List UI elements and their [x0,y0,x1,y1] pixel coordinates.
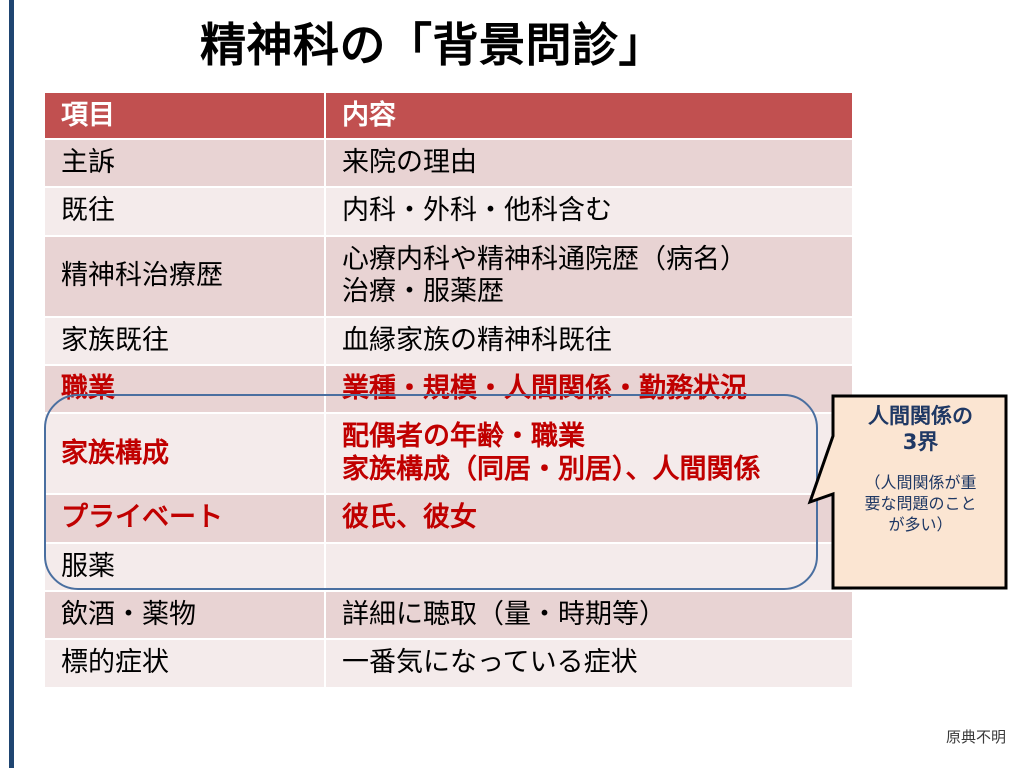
table-row: 家族既往血縁家族の精神科既往 [45,317,852,365]
table-header-row: 項目 内容 [45,93,852,139]
column-header-item: 項目 [45,93,325,139]
page-title: 精神科の「背景問診」 [45,6,820,78]
table-cell-item: 家族構成 [45,413,325,494]
table-cell-content: 来院の理由 [325,139,852,187]
table-cell-content-line: 家族構成（同居・別居）、人間関係 [342,454,852,486]
table-cell-content-line: 心療内科や精神科通院歴（病名） [342,244,852,276]
table-cell-content [325,543,852,591]
table-body: 主訴来院の理由既往内科・外科・他科含む精神科治療歴心療内科や精神科通院歴（病名）… [45,139,852,688]
callout-box: 人間関係の 3界 （人間関係が重 要な問題のこと が多い） [806,394,1008,590]
table-cell-content-line: 彼氏、彼女 [342,502,852,534]
table-row: 主訴来院の理由 [45,139,852,187]
table-cell-item: 飲酒・薬物 [45,591,325,639]
left-accent-bar [9,0,14,768]
table-cell-content: 彼氏、彼女 [325,494,852,542]
table-row: 家族構成配偶者の年齢・職業家族構成（同居・別居）、人間関係 [45,413,852,494]
table-cell-content-line: 一番気になっている症状 [342,647,852,679]
table-cell-content: 詳細に聴取（量・時期等） [325,591,852,639]
table-cell-content-line [342,551,852,583]
table-cell-item: 既往 [45,187,325,235]
table-cell-content: 業種・規模・人間関係・勤務状況 [325,365,852,413]
table-cell-content: 一番気になっている症状 [325,639,852,687]
table-row: 飲酒・薬物詳細に聴取（量・時期等） [45,591,852,639]
table-cell-item: 主訴 [45,139,325,187]
column-header-content: 内容 [325,93,852,139]
callout-subtext: （人間関係が重 要な問題のこと が多い） [841,473,1000,535]
table-cell-content: 心療内科や精神科通院歴（病名）治療・服薬歴 [325,236,852,317]
source-attribution: 原典不明 [946,726,1006,747]
table-row: 標的症状一番気になっている症状 [45,639,852,687]
callout-title-line-1: 人間関係の [841,404,1000,430]
table-cell-content-line: 血縁家族の精神科既往 [342,325,852,357]
table-row: 職業業種・規模・人間関係・勤務状況 [45,365,852,413]
callout-content: 人間関係の 3界 （人間関係が重 要な問題のこと が多い） [833,394,1008,590]
table-row: プライベート彼氏、彼女 [45,494,852,542]
table-header: 項目 内容 [45,93,852,139]
table-cell-content-line: 業種・規模・人間関係・勤務状況 [342,373,852,405]
table-cell-item: 標的症状 [45,639,325,687]
table-cell-item: 職業 [45,365,325,413]
table-cell-item: プライベート [45,494,325,542]
table-cell-item: 服薬 [45,543,325,591]
table-row: 精神科治療歴心療内科や精神科通院歴（病名）治療・服薬歴 [45,236,852,317]
table-cell-content: 血縁家族の精神科既往 [325,317,852,365]
table-cell-content-line: 治療・服薬歴 [342,276,852,308]
table-cell-content-line: 配偶者の年齢・職業 [342,421,852,453]
callout-title: 人間関係の 3界 [841,404,1000,455]
table-cell-content-line: 来院の理由 [342,147,852,179]
callout-sub-line-3: が多い） [841,515,1000,536]
callout-sub-line-2: 要な問題のこと [841,494,1000,515]
table-row: 既往内科・外科・他科含む [45,187,852,235]
table-cell-content-line: 内科・外科・他科含む [342,195,852,227]
table-cell-content: 配偶者の年齢・職業家族構成（同居・別居）、人間関係 [325,413,852,494]
table-row: 服薬 [45,543,852,591]
table-cell-item: 家族既往 [45,317,325,365]
callout-title-line-2: 3界 [841,430,1000,456]
background-interview-table: 項目 内容 主訴来院の理由既往内科・外科・他科含む精神科治療歴心療内科や精神科通… [45,93,852,689]
table-cell-content-line: 詳細に聴取（量・時期等） [342,599,852,631]
table-cell-item: 精神科治療歴 [45,236,325,317]
table-cell-content: 内科・外科・他科含む [325,187,852,235]
callout-sub-line-1: （人間関係が重 [841,473,1000,494]
